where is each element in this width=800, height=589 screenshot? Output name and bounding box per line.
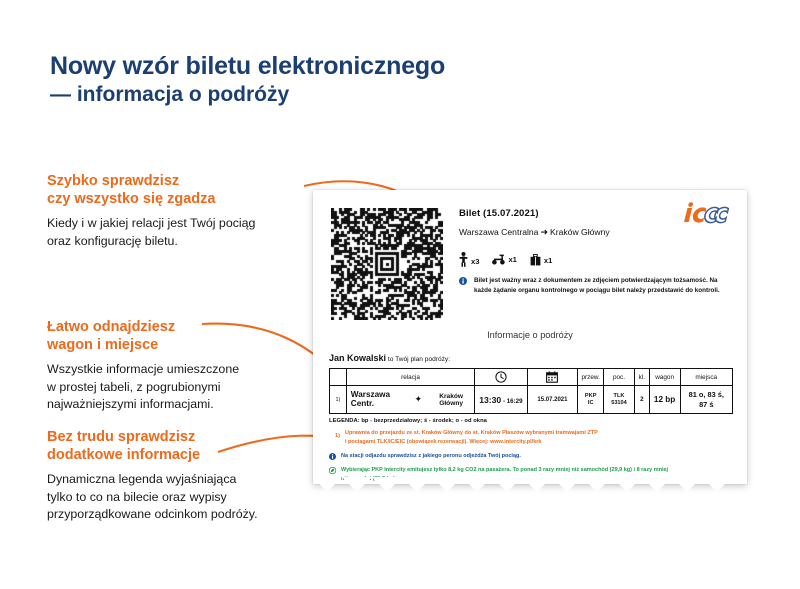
luggage-icon	[530, 254, 541, 266]
passenger-group-luggage: x1	[530, 254, 552, 266]
row-train-line-2: 53104	[604, 400, 634, 407]
person-count: x3	[471, 257, 479, 266]
row-class: 2	[640, 396, 643, 403]
feature-1-body-line-2: oraz konfigurację biletu.	[47, 233, 322, 251]
journey-table: relacja	[329, 368, 733, 414]
row-train: TLK 53104	[604, 393, 634, 407]
th-date	[527, 369, 578, 386]
info-icon	[329, 453, 336, 460]
route-to: Kraków Główny	[550, 227, 610, 237]
passenger-plan-suffix: to Twój plan podróży:	[388, 356, 450, 363]
feature-1-heading-line-1: Szybko sprawdzisz	[47, 172, 322, 190]
legend-item-1-text: Uprawnia do przejazdu ze st. Kraków Głów…	[345, 429, 598, 447]
route-from: Warszawa Centralna	[459, 227, 538, 237]
calendar-icon	[546, 371, 558, 383]
table-header-row: relacja	[330, 369, 733, 386]
clock-icon	[495, 371, 507, 383]
luggage-count: x1	[544, 256, 552, 265]
row-wagon: 12 bp	[654, 395, 675, 404]
legend-item-2: Na stacji odjazdu sprawdzisz z jakiego p…	[329, 452, 733, 461]
row-depart-time: 13:30	[479, 395, 501, 405]
feature-1-body-line-1: Kiedy i w jakiej relacji jest Twój pocią…	[47, 215, 322, 233]
ticket-notice: Bilet jest ważny wraz z dokumentem ze zd…	[459, 276, 731, 296]
info-icon	[459, 277, 467, 285]
row-carrier-line-2: IC	[578, 400, 603, 407]
th-przewoznik: przew.	[578, 369, 604, 386]
row-carrier-line-1: PKP	[578, 393, 603, 400]
ticket-route: Warszawa Centralna➜Kraków Główny	[459, 227, 733, 238]
feature-block-1: Szybko sprawdzisz czy wszystko się zgadz…	[47, 172, 322, 250]
feature-1-heading: Szybko sprawdzisz czy wszystko się zgadz…	[47, 172, 322, 208]
feature-1-body: Kiedy i w jakiej relacji jest Twój pocią…	[47, 215, 322, 250]
legend-item-1-marker: 1)	[329, 429, 340, 447]
row-arrive-time: 16:29	[507, 398, 523, 405]
title-line-1: Nowy wzór biletu elektronicznego	[50, 52, 445, 80]
feature-1-heading-line-2: czy wszystko się zgadza	[47, 190, 322, 208]
row-from: Warszawa Centr.	[351, 391, 399, 408]
legend: LEGENDA: bp - bezprzedziałowy; ś - środe…	[329, 418, 733, 484]
passenger-plan-line: Jan Kowalski to Twój plan podróży:	[329, 353, 450, 363]
row-seats: 81 o, 83 ś, 87 ś	[681, 390, 732, 409]
row-train-line-1: TLK	[604, 393, 634, 400]
aztec-code	[331, 208, 443, 320]
table-row: 1) Warszawa Centr. ✦ Kraków Główny 13:30…	[330, 386, 733, 414]
row-to: Kraków Główny	[432, 393, 470, 407]
legend-item-3-line-1: Wybierając PKP Intercity emitujesz tylko…	[341, 466, 668, 475]
row-arrow-icon: ✦	[415, 394, 423, 405]
passenger-name: Jan Kowalski	[329, 353, 386, 363]
page-title: Nowy wzór biletu elektronicznego — infor…	[50, 52, 445, 107]
row-date: 15.07.2021	[537, 397, 567, 403]
passenger-group-bicycle: x1	[492, 254, 516, 265]
row-index: 1)	[336, 397, 341, 403]
row-seats-line-1: 81 o, 83 ś,	[681, 390, 732, 399]
section-title: Informacje o podróży	[313, 330, 747, 340]
row-carrier: PKP IC	[578, 393, 603, 407]
legend-item-1-line-2: i pociągami TLK/IC/EIC (obowiązek rezerw…	[345, 438, 598, 447]
legend-item-1: 1) Uprawnia do przejazdu ze st. Kraków G…	[329, 429, 733, 447]
th-pociag: poc.	[604, 369, 635, 386]
legend-item-2-text: Na stacji odjazdu sprawdzisz z jakiego p…	[341, 452, 521, 461]
row-seats-line-2: 87 ś	[681, 400, 732, 409]
th-klasa: kl.	[634, 369, 649, 386]
slide-canvas: Nowy wzór biletu elektronicznego — infor…	[0, 0, 800, 589]
leaf-icon	[329, 467, 336, 474]
ticket-card: Bilet (15.07.2021) Warszawa Centralna➜Kr…	[313, 190, 747, 484]
ticket-notice-text: Bilet jest ważny wraz z dokumentem ze zd…	[474, 276, 731, 296]
passenger-group-person: x3	[459, 252, 479, 267]
bicycle-icon	[492, 254, 505, 265]
th-time	[475, 369, 527, 386]
legend-title: LEGENDA: bp - bezprzedziałowy; ś - środe…	[329, 418, 733, 424]
torn-edge	[313, 477, 747, 492]
feature-3-body-line-3: przyporządkowane odcinkom podróży.	[47, 506, 322, 524]
th-miejsca: miejsca	[680, 369, 732, 386]
legend-item-1-line-1: Uprawnia do przejazdu ze st. Kraków Głów…	[345, 429, 598, 438]
bicycle-count: x1	[508, 255, 516, 264]
th-index	[330, 369, 347, 386]
th-wagon: wagon	[649, 369, 680, 386]
legend-item-2-line-1: Na stacji odjazdu sprawdzisz z jakiego p…	[341, 452, 521, 461]
route-arrow-icon: ➜	[538, 227, 550, 237]
title-line-2: — informacja o podróży	[50, 82, 445, 107]
passenger-summary: x3 x1	[459, 252, 561, 267]
intercity-logo-icon	[677, 202, 735, 228]
person-icon	[459, 252, 468, 267]
th-relacja: relacja	[346, 369, 474, 386]
